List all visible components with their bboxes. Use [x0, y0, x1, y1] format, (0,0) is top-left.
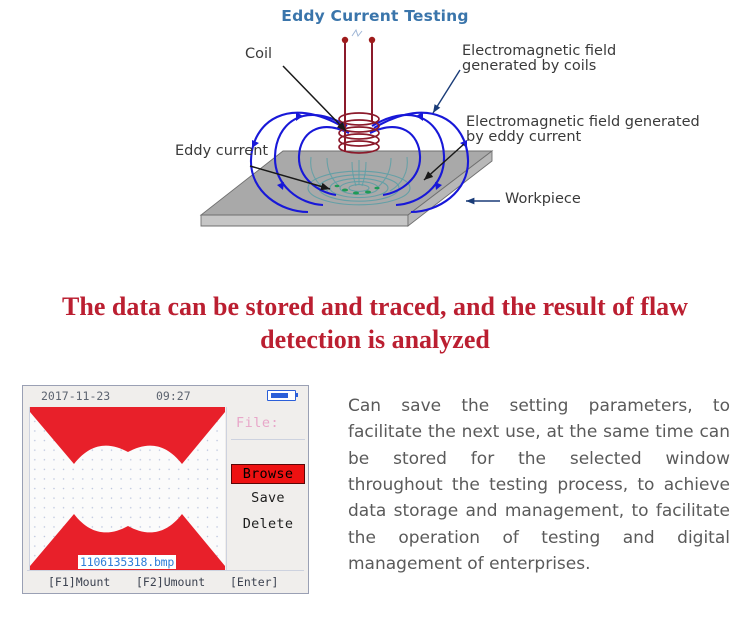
device-file-label: File:: [236, 415, 279, 431]
device-status-bar: 2017-11-23 09:27: [23, 386, 308, 407]
device-time: 09:27: [156, 389, 191, 403]
softkey-f2-umount[interactable]: [F2]Umount: [136, 575, 205, 589]
device-menu-item-browse[interactable]: Browse: [231, 464, 305, 484]
waveform-svg: [30, 407, 225, 571]
diagram-label-workpiece: Workpiece: [505, 192, 581, 207]
softkey-f1-mount[interactable]: [F1]Mount: [48, 575, 110, 589]
device-menu-item-save[interactable]: Save: [231, 490, 305, 506]
device-file-menu: File: Browse Save Delete: [226, 407, 310, 571]
device-menu-divider: [231, 439, 305, 440]
diagram-label-eddy-current: Eddy current: [175, 144, 268, 159]
battery-icon: [267, 390, 296, 401]
device-filename: 1106135318.bmp: [78, 555, 176, 569]
leader-emf-coils: [433, 70, 460, 113]
workpiece-slab: [201, 151, 492, 226]
eddy-current-diagram: Eddy Current Testing: [0, 0, 750, 268]
device-footer-divider: [27, 570, 304, 571]
softkey-enter[interactable]: [Enter]: [230, 575, 278, 589]
diagram-label-coil: Coil: [245, 47, 272, 62]
device-screen: 2017-11-23 09:27 1106135318.bmp File: Br…: [22, 385, 309, 594]
waveform-upper-fill: [30, 407, 225, 464]
device-waveform-plot: 1106135318.bmp: [29, 407, 225, 571]
device-date: 2017-11-23: [41, 389, 110, 403]
section-headline: The data can be stored and traced, and t…: [25, 290, 725, 357]
body-copy-paragraph: Can save the setting parameters, to faci…: [348, 393, 730, 577]
coil-terminals: [342, 37, 375, 43]
device-softkey-bar: [F1]Mount [F2]Umount [Enter]: [23, 572, 308, 593]
diagram-label-emf-coils: Electromagnetic field generated by coils: [462, 44, 616, 75]
coil-spark-mark: [352, 30, 362, 36]
device-menu-item-delete[interactable]: Delete: [231, 516, 305, 532]
diagram-label-emf-eddy: Electromagnetic field generated by eddy …: [466, 115, 700, 146]
